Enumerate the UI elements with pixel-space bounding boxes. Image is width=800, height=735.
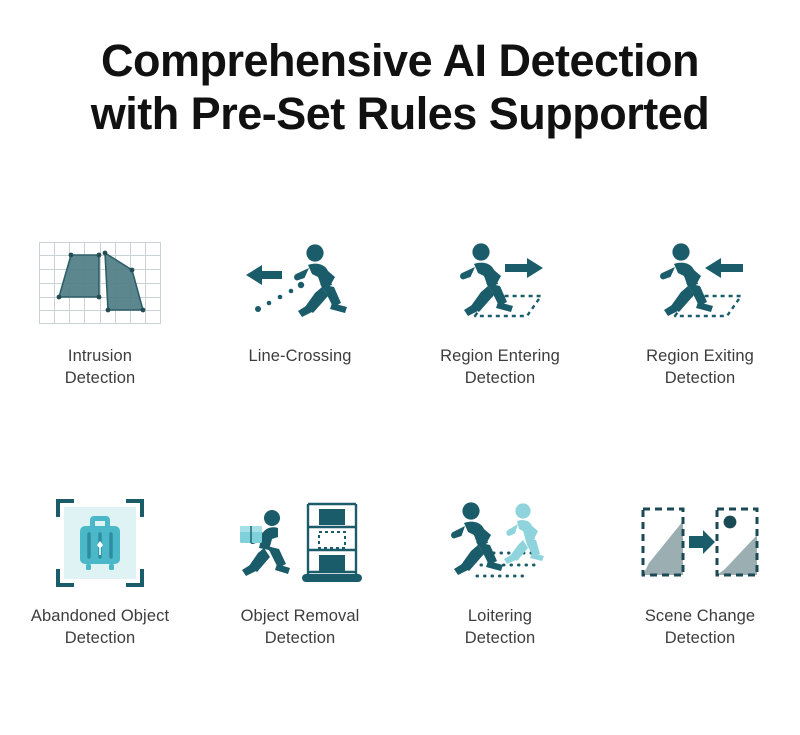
line-crossing-icon: [235, 235, 365, 331]
feature-item-intrusion-detection: Intrusion Detection: [0, 235, 200, 410]
feature-item-loitering-detection: Loitering Detection: [400, 495, 600, 670]
feature-label: Abandoned Object Detection: [31, 605, 169, 650]
walking-ghost-trail-icon: [435, 495, 565, 591]
feature-item-abandoned-object-detection: Abandoned Object Detection: [0, 495, 200, 670]
feature-label: Object Removal Detection: [241, 605, 360, 650]
feature-label: Scene Change Detection: [645, 605, 755, 650]
shelf-carry-box-icon: [235, 495, 365, 591]
two-scenes-arrow-icon: [635, 495, 765, 591]
feature-item-scene-change-detection: Scene Change Detection: [600, 495, 800, 670]
feature-item-object-removal-detection: Object Removal Detection: [200, 495, 400, 670]
page-title-line-1: Comprehensive AI Detection: [30, 34, 770, 87]
feature-label: Line-Crossing: [248, 345, 351, 367]
feature-item-region-entering-detection: Region Entering Detection: [400, 235, 600, 410]
feature-item-region-exiting-detection: Region Exiting Detection: [600, 235, 800, 410]
region-exiting-icon: [635, 235, 765, 331]
feature-label: Region Exiting Detection: [646, 345, 754, 390]
grid-polygons-icon: [35, 235, 165, 331]
page-title-line-2: with Pre-Set Rules Supported: [30, 87, 770, 140]
feature-grid: Intrusion Detection: [0, 235, 800, 670]
feature-label: Region Entering Detection: [440, 345, 560, 390]
region-entering-icon: [435, 235, 565, 331]
feature-label: Loitering Detection: [465, 605, 536, 650]
feature-label: Intrusion Detection: [65, 345, 136, 390]
suitcase-bracket-icon: [35, 495, 165, 591]
feature-item-line-crossing: Line-Crossing: [200, 235, 400, 410]
page-title: Comprehensive AI Detection with Pre-Set …: [0, 0, 800, 140]
